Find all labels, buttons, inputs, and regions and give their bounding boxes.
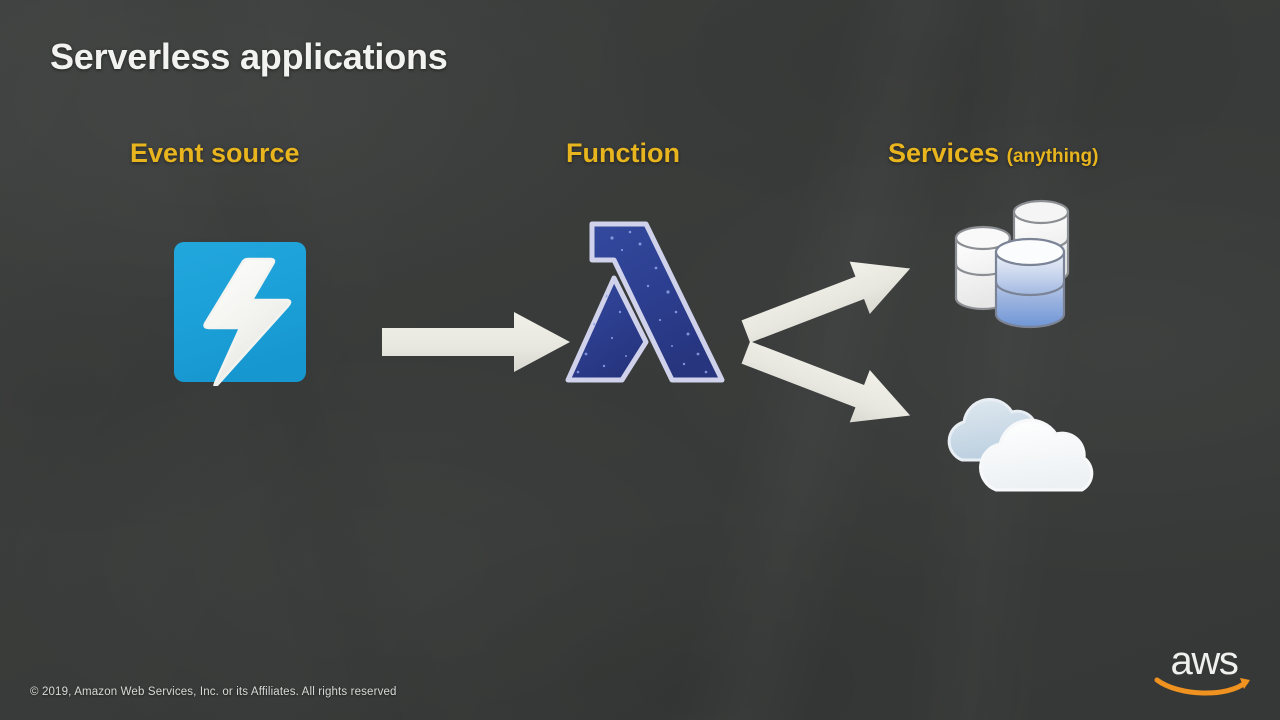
copyright-text: © 2019, Amazon Web Services, Inc. or its… xyxy=(30,686,397,698)
clouds-icon xyxy=(932,390,1112,498)
arrow-event-to-function xyxy=(380,310,572,374)
column-label-services: Services (anything) xyxy=(888,138,1098,169)
column-label-services-main: Services xyxy=(888,138,999,168)
column-label-function: Function xyxy=(566,138,680,169)
arrow-function-to-cloud xyxy=(736,332,920,436)
aws-swoosh-icon xyxy=(1154,676,1254,698)
aws-logo: aws xyxy=(1152,646,1256,698)
page-title: Serverless applications xyxy=(50,36,448,78)
slide-canvas: Serverless applications Event source Fun… xyxy=(0,0,1280,720)
column-label-event-source: Event source xyxy=(130,138,300,169)
aws-wordmark: aws xyxy=(1152,641,1256,681)
database-stack-icon xyxy=(948,190,1104,330)
lightning-bolt-icon xyxy=(172,238,308,386)
column-label-services-sub: (anything) xyxy=(1007,146,1099,167)
aws-lambda-icon xyxy=(560,216,732,388)
